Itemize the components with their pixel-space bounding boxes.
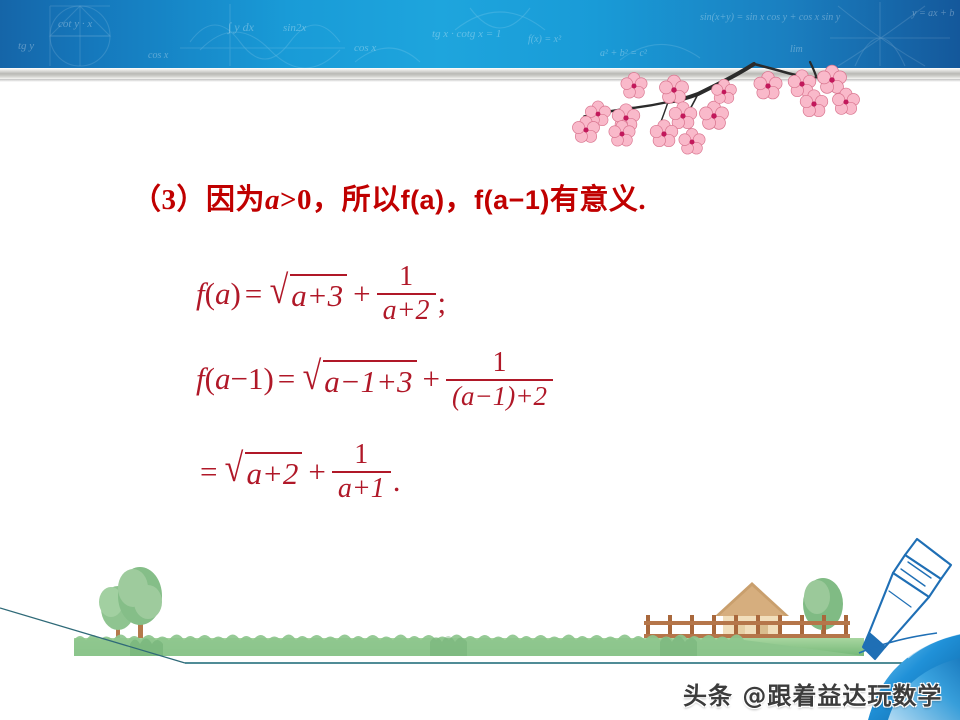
banner-formula-7: sin(x+y) = sin x cos y + cos x sin y [700, 12, 840, 23]
f1-sqrt: √ a+3 [268, 273, 347, 314]
watermark-text: 头条 @跟着益达玩数学 [683, 676, 942, 711]
f2-fraction: 1 (a−1)+2 [446, 348, 553, 410]
f3-numerator: 1 [348, 440, 374, 471]
f3-plus: + [304, 454, 329, 490]
statement-fn-two: f(a−1) [474, 185, 550, 215]
f3-denominator: a+1 [332, 471, 391, 504]
f2-argument-minus: − [230, 361, 247, 397]
f3-equals: = [196, 454, 221, 490]
f2-close-paren: ) [263, 361, 273, 397]
statement-fn-one: f(a) [401, 185, 445, 215]
f1-terminator: ; [438, 285, 447, 325]
f2-denominator: (a−1)+2 [446, 379, 553, 411]
f1-plus: + [349, 276, 374, 312]
statement-tail: 有意义. [550, 184, 646, 216]
f2-argument-one: 1 [248, 361, 264, 397]
statement-comma: ， [445, 184, 475, 216]
banner-formula-4: sin2x [283, 22, 306, 34]
statement-therefore: 所以 [342, 184, 401, 216]
banner-formula-8: lim [790, 44, 803, 55]
f1-numerator: 1 [393, 262, 419, 293]
f2-radical-sign: √ [303, 360, 322, 401]
f2-radicand: a−1+3 [323, 360, 416, 400]
statement-number: （3） [132, 184, 206, 216]
f2-equals: = [274, 361, 299, 397]
formula-line-1: f(a) = √ a+3 + 1 a+2 ; [196, 262, 446, 325]
f3-fraction: 1 a+1 [332, 440, 391, 503]
f2-function-name: f [196, 361, 205, 397]
f3-terminator: . [393, 463, 401, 503]
f2-open-paren: ( [205, 361, 215, 397]
cherry-blossom-icon [558, 58, 888, 168]
banner-formula-1: tg y [18, 40, 34, 52]
f3-radical-sign: √ [225, 452, 244, 493]
formula-line-2: f(a−1) = √ a−1+3 + 1 (a−1)+2 [196, 348, 555, 410]
f1-function-name: f [196, 276, 205, 312]
f1-open-paren: ( [205, 276, 215, 312]
f1-radicand: a+3 [290, 274, 347, 314]
f1-fraction: 1 a+2 [377, 262, 436, 325]
f1-argument: a [215, 276, 231, 312]
pen-icon [845, 535, 960, 665]
f2-numerator: 1 [486, 348, 512, 379]
banner-formula-9: f(x) = x² [528, 34, 561, 45]
banner-formula-6: tg x · cotg x = 1 [432, 28, 501, 40]
f3-radicand: a+2 [245, 452, 302, 492]
banner-formula-11: y = ax + b [912, 8, 954, 19]
f1-equals: = [241, 276, 266, 312]
decorative-rule-lines [0, 600, 960, 680]
banner-formula-5: cos x [354, 42, 376, 54]
f1-radical-sign: √ [270, 274, 289, 315]
presentation-slide: cot y · x tg y cos x ∫ y dx sin2x cos x … [0, 0, 960, 720]
statement-because: 因为 [206, 184, 265, 216]
formula-line-3: = √ a+2 + 1 a+1 . [196, 440, 401, 503]
f1-close-paren: ) [230, 276, 240, 312]
statement-condition-rest: >0， [280, 184, 342, 216]
f2-sqrt: √ a−1+3 [301, 359, 416, 400]
banner-formula-0: cot y · x [58, 18, 92, 30]
statement-line: （3）因为a>0，所以f(a)，f(a−1)有意义. [132, 176, 646, 218]
f2-argument-var: a [215, 361, 231, 397]
f1-denominator: a+2 [377, 293, 436, 326]
f3-sqrt: √ a+2 [223, 451, 302, 492]
statement-condition-var: a [265, 184, 280, 216]
banner-formula-3: ∫ y dx [228, 20, 254, 35]
f2-plus: + [419, 361, 444, 397]
banner-formula-2: cos x [148, 50, 168, 61]
